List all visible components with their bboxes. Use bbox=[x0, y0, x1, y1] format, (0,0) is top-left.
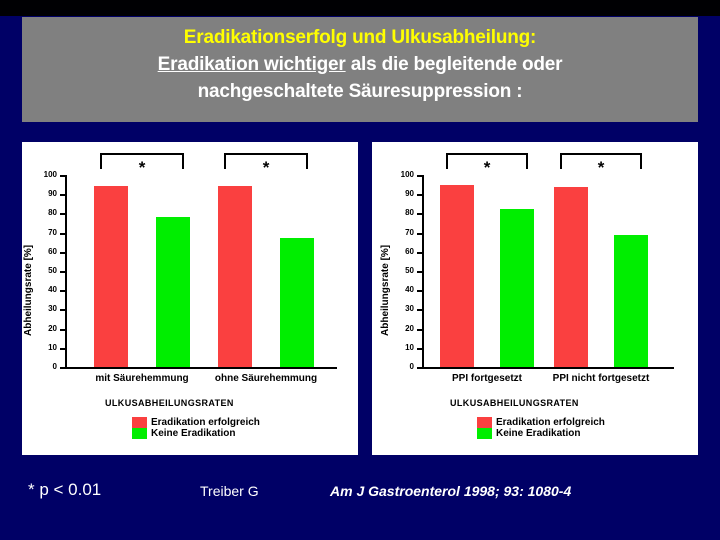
y-axis-tick bbox=[60, 271, 65, 273]
y-axis-tick bbox=[60, 329, 65, 331]
y-axis-tick bbox=[417, 348, 422, 350]
significance-asterisk: * bbox=[446, 159, 528, 176]
y-axis bbox=[65, 175, 67, 368]
y-axis-tick bbox=[417, 290, 422, 292]
y-axis-tick bbox=[417, 329, 422, 331]
chart-right-plot-area: 0102030405060708090100Abheilungsrate [%]… bbox=[372, 142, 698, 455]
bar bbox=[218, 186, 252, 367]
y-axis-tick-label: 40 bbox=[392, 286, 414, 294]
y-axis-tick-label: 100 bbox=[35, 171, 57, 179]
legend-item: Keine Eradikation bbox=[132, 428, 260, 439]
significance-bracket: * bbox=[100, 153, 184, 177]
x-axis bbox=[65, 367, 337, 369]
chart-panel-left: 0102030405060708090100Abheilungsrate [%]… bbox=[22, 142, 358, 455]
chart-panel-right: 0102030405060708090100Abheilungsrate [%]… bbox=[372, 142, 698, 455]
y-axis-tick-label: 0 bbox=[392, 363, 414, 371]
y-axis-label: Abheilungsrate [%] bbox=[23, 245, 34, 336]
bar bbox=[280, 238, 314, 367]
legend-item-label: Eradikation erfolgreich bbox=[496, 417, 605, 428]
chart-left-plot-area: 0102030405060708090100Abheilungsrate [%]… bbox=[22, 142, 358, 455]
y-axis-tick-label: 10 bbox=[392, 344, 414, 352]
legend-swatch bbox=[477, 428, 492, 439]
title-underlined-phrase: Eradikation wichtiger bbox=[158, 54, 346, 75]
x-axis-category-label: ohne Säurehemmung bbox=[191, 373, 341, 384]
bar bbox=[614, 235, 648, 367]
y-axis bbox=[422, 175, 424, 368]
y-axis-tick bbox=[60, 290, 65, 292]
significance-bracket-line bbox=[100, 153, 184, 155]
y-axis-tick bbox=[60, 233, 65, 235]
y-axis-tick bbox=[417, 175, 422, 177]
legend-item-label: Keine Eradikation bbox=[151, 428, 235, 439]
y-axis-tick-label: 50 bbox=[35, 267, 57, 275]
legend-title: ULKUSABHEILUNGSRATEN bbox=[105, 398, 234, 408]
y-axis-tick-label: 60 bbox=[35, 248, 57, 256]
y-axis-tick-label: 10 bbox=[35, 344, 57, 352]
title-subline-1: Eradikation wichtiger als die begleitend… bbox=[22, 51, 698, 78]
x-axis-category-label: PPI nicht fortgesetzt bbox=[526, 373, 676, 384]
y-axis-tick-label: 70 bbox=[35, 229, 57, 237]
y-axis-tick bbox=[60, 348, 65, 350]
significance-asterisk: * bbox=[560, 159, 642, 176]
y-axis-tick-label: 70 bbox=[392, 229, 414, 237]
footer: * p < 0.01 Treiber G Am J Gastroenterol … bbox=[0, 480, 720, 510]
y-axis-tick-label: 20 bbox=[35, 325, 57, 333]
x-axis bbox=[422, 367, 674, 369]
bar bbox=[500, 209, 534, 367]
significance-bracket-line bbox=[224, 153, 308, 155]
significance-asterisk: * bbox=[224, 159, 308, 176]
y-axis-tick-label: 0 bbox=[35, 363, 57, 371]
legend-swatch bbox=[477, 417, 492, 428]
title-subline-1-rest: als die begleitende oder bbox=[346, 54, 563, 75]
y-axis-tick bbox=[60, 213, 65, 215]
y-axis-tick-label: 100 bbox=[392, 171, 414, 179]
legend-title: ULKUSABHEILUNGSRATEN bbox=[450, 398, 579, 408]
significance-bracket: * bbox=[446, 153, 528, 177]
y-axis-tick-label: 60 bbox=[392, 248, 414, 256]
footer-reference: Am J Gastroenterol 1998; 93: 1080-4 bbox=[330, 483, 571, 499]
legend-item-label: Eradikation erfolgreich bbox=[151, 417, 260, 428]
significance-asterisk: * bbox=[100, 159, 184, 176]
hper-label: HPER bbox=[24, 373, 67, 390]
title-subline-2: nachgeschaltete Säuresuppression : bbox=[22, 78, 698, 105]
y-axis-label: Abheilungsrate [%] bbox=[380, 245, 391, 336]
y-axis-tick bbox=[417, 194, 422, 196]
legend-item: Keine Eradikation bbox=[477, 428, 605, 439]
y-axis-tick-label: 30 bbox=[35, 305, 57, 313]
bar bbox=[156, 217, 190, 367]
y-axis-tick-label: 90 bbox=[392, 190, 414, 198]
legend-item-label: Keine Eradikation bbox=[496, 428, 580, 439]
bar bbox=[94, 186, 128, 367]
slide-top-band bbox=[0, 0, 720, 16]
y-axis-tick bbox=[417, 271, 422, 273]
slide: Eradikationserfolg und Ulkusabheilung: E… bbox=[0, 0, 720, 540]
y-axis-tick bbox=[417, 233, 422, 235]
significance-bracket-line bbox=[560, 153, 642, 155]
y-axis-tick bbox=[417, 213, 422, 215]
y-axis-tick-label: 80 bbox=[392, 209, 414, 217]
y-axis-tick bbox=[60, 252, 65, 254]
legend-swatch bbox=[132, 428, 147, 439]
bar bbox=[440, 185, 474, 367]
legend-swatch bbox=[132, 417, 147, 428]
y-axis-tick-label: 80 bbox=[35, 209, 57, 217]
legend-item: Eradikation erfolgreich bbox=[477, 417, 605, 428]
page-title: Eradikationserfolg und Ulkusabheilung: bbox=[22, 25, 698, 51]
y-axis-tick bbox=[60, 309, 65, 311]
significance-bracket: * bbox=[224, 153, 308, 177]
y-axis-tick-label: 30 bbox=[392, 305, 414, 313]
y-axis-tick-label: 40 bbox=[35, 286, 57, 294]
y-axis-tick-label: 50 bbox=[392, 267, 414, 275]
y-axis-tick bbox=[60, 367, 65, 369]
legend-item: Eradikation erfolgreich bbox=[132, 417, 260, 428]
y-axis-tick bbox=[417, 309, 422, 311]
y-axis-tick-label: 90 bbox=[35, 190, 57, 198]
y-axis-tick bbox=[60, 194, 65, 196]
chart-legend: Eradikation erfolgreichKeine Eradikation bbox=[132, 417, 260, 439]
footer-author: Treiber G bbox=[200, 483, 259, 499]
y-axis-tick bbox=[417, 367, 422, 369]
y-axis-tick-label: 20 bbox=[392, 325, 414, 333]
significance-bracket-line bbox=[446, 153, 528, 155]
significance-bracket: * bbox=[560, 153, 642, 177]
footer-p-value: * p < 0.01 bbox=[28, 480, 101, 500]
bar bbox=[554, 187, 588, 367]
title-box: Eradikationserfolg und Ulkusabheilung: E… bbox=[22, 17, 698, 122]
y-axis-tick bbox=[60, 175, 65, 177]
y-axis-tick bbox=[417, 252, 422, 254]
chart-legend: Eradikation erfolgreichKeine Eradikation bbox=[477, 417, 605, 439]
